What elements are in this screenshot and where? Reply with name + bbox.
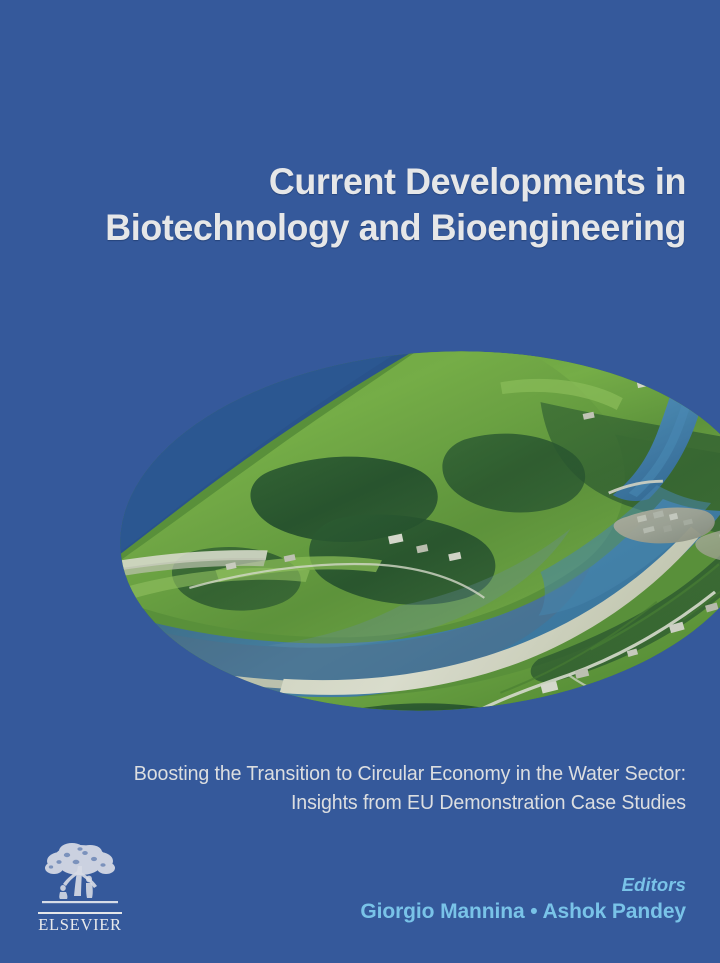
- elsevier-logo: ELSEVIER: [36, 840, 124, 938]
- aerial-river-valley-photograph: [111, 335, 720, 727]
- photo-inner-canvas: [111, 335, 720, 727]
- editors-label: Editors: [360, 873, 686, 897]
- aerial-photo-illustration: [111, 335, 720, 727]
- title-line-2: Biotechnology and Bioengineering: [31, 204, 686, 250]
- subtitle-line-1: Boosting the Transition to Circular Econ…: [57, 760, 686, 789]
- elsevier-tree-icon: [36, 840, 124, 912]
- editors-names: Giorgio Mannina • Ashok Pandey: [360, 897, 686, 927]
- page-title: Current Developments in Biotechnology an…: [0, 158, 720, 250]
- elsevier-wordmark: ELSEVIER: [36, 916, 124, 934]
- editors-block: Editors Giorgio Mannina • Ashok Pandey: [360, 873, 686, 927]
- subtitle-line-2: Insights from EU Demonstration Case Stud…: [57, 789, 686, 818]
- subtitle: Boosting the Transition to Circular Econ…: [0, 760, 720, 818]
- book-cover: Current Developments in Biotechnology an…: [0, 0, 720, 963]
- elsevier-logo-rule: [38, 912, 122, 914]
- title-line-1: Current Developments in: [31, 158, 686, 204]
